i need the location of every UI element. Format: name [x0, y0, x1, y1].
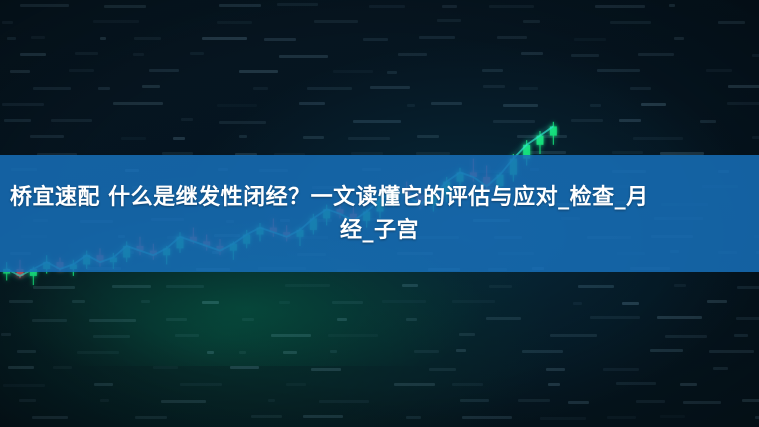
data-text-fragment — [752, 136, 759, 139]
data-text-fragment — [497, 36, 528, 39]
data-text-fragment — [616, 382, 656, 385]
data-text-fragment — [398, 53, 428, 56]
data-text-fragment — [456, 349, 466, 352]
data-text-fragment — [264, 38, 296, 41]
data-text-fragment — [660, 415, 686, 418]
data-text-fragment — [574, 38, 606, 41]
data-text-fragment — [619, 119, 641, 122]
data-text-fragment — [742, 399, 759, 402]
data-text-fragment — [207, 351, 215, 354]
data-text-fragment — [568, 401, 589, 404]
data-text-fragment — [253, 87, 268, 90]
data-text-fragment — [75, 52, 99, 55]
data-text-fragment — [100, 37, 107, 40]
data-text-fragment — [669, 4, 675, 7]
data-text-fragment — [437, 19, 462, 22]
data-text-fragment — [610, 21, 651, 24]
data-text-fragment — [546, 368, 565, 371]
title-line-2: 经_子宫 — [6, 214, 753, 247]
data-text-fragment — [442, 5, 457, 8]
data-text-fragment — [134, 37, 161, 40]
data-text-fragment — [755, 416, 759, 419]
data-text-fragment — [548, 383, 561, 386]
data-text-fragment — [736, 317, 759, 320]
data-text-fragment — [363, 38, 389, 41]
data-text-fragment — [10, 70, 30, 73]
data-text-fragment — [149, 69, 179, 72]
data-text-fragment — [680, 383, 697, 386]
data-text-fragment — [133, 53, 143, 56]
data-text-fragment — [700, 120, 716, 123]
data-text-fragment — [8, 366, 35, 369]
data-text-fragment — [283, 351, 297, 354]
data-text-fragment — [279, 55, 327, 58]
title-banner: 桥宜速配 什么是继发性闭经？一文读懂它的评估与应对_检查_月 经_子宫 — [0, 155, 759, 272]
data-text-fragment — [752, 54, 759, 57]
data-text-fragment — [20, 53, 47, 56]
data-text-fragment — [612, 151, 643, 154]
data-text-fragment — [573, 302, 582, 305]
data-text-fragment — [590, 104, 601, 107]
data-text-fragment — [180, 383, 222, 386]
data-text-fragment — [727, 102, 759, 105]
data-text-fragment — [394, 383, 435, 386]
data-text-fragment — [571, 54, 599, 57]
data-text-fragment — [483, 85, 505, 88]
banner-image: 桥宜速配 什么是继发性闭经？一文读懂它的评估与应对_检查_月 经_子宫 — [0, 0, 759, 427]
data-text-fragment — [590, 316, 639, 319]
data-text-fragment — [452, 383, 482, 386]
data-text-fragment — [100, 399, 110, 402]
data-text-fragment — [597, 69, 640, 72]
data-text-fragment — [268, 399, 275, 402]
data-text-fragment — [641, 103, 666, 106]
data-text-fragment — [286, 383, 306, 386]
data-text-fragment — [69, 69, 94, 72]
data-text-fragment — [489, 5, 534, 8]
data-text-fragment — [734, 334, 747, 337]
data-text-fragment — [482, 69, 503, 72]
data-text-fragment — [31, 36, 44, 39]
data-text-fragment — [633, 137, 683, 140]
data-text-fragment — [595, 5, 645, 8]
data-text-fragment — [522, 350, 563, 353]
data-text-fragment — [33, 87, 71, 90]
data-text-fragment — [521, 52, 542, 55]
data-text-fragment — [674, 37, 684, 40]
data-text-fragment — [540, 417, 586, 420]
data-text-fragment — [20, 4, 70, 7]
data-text-fragment — [307, 87, 352, 90]
data-text-fragment — [523, 20, 539, 23]
data-text-fragment — [98, 87, 110, 90]
data-text-fragment — [330, 350, 337, 353]
data-text-fragment — [650, 349, 682, 352]
data-text-fragment — [314, 20, 358, 23]
data-text-fragment — [728, 85, 759, 88]
data-text-fragment — [578, 285, 614, 288]
data-text-fragment — [19, 399, 36, 402]
data-text-fragment — [519, 87, 538, 90]
data-text-fragment — [657, 316, 702, 319]
data-text-fragment — [683, 401, 721, 404]
data-text-fragment — [369, 5, 405, 8]
data-text-fragment — [190, 52, 204, 55]
data-text-fragment — [387, 71, 396, 74]
data-text-fragment — [406, 416, 421, 419]
data-text-fragment — [460, 399, 489, 402]
data-text-fragment — [303, 415, 343, 418]
data-text-fragment — [2, 21, 13, 24]
data-text-fragment — [518, 399, 550, 402]
data-text-fragment — [277, 3, 318, 6]
data-text-fragment — [161, 400, 205, 403]
data-text-fragment — [630, 87, 651, 90]
data-text-fragment — [737, 286, 759, 289]
data-text-fragment — [142, 85, 160, 88]
title-line-1: 桥宜速配 什么是继发性闭经？一文读懂它的评估与应对_检查_月 — [6, 181, 753, 214]
data-text-fragment — [429, 368, 456, 371]
data-text-fragment — [571, 119, 603, 122]
data-text-fragment — [414, 350, 439, 353]
data-text-fragment — [230, 366, 259, 369]
data-text-fragment — [7, 37, 15, 40]
data-text-fragment — [622, 302, 639, 305]
data-text-fragment — [239, 70, 278, 73]
data-text-fragment — [77, 351, 119, 354]
data-text-fragment — [709, 350, 754, 353]
data-text-fragment — [607, 416, 636, 419]
data-text-fragment — [94, 383, 114, 386]
data-text-fragment — [104, 5, 145, 8]
data-text-fragment — [462, 416, 512, 419]
data-text-fragment — [636, 400, 665, 403]
data-text-fragment — [239, 351, 246, 354]
data-text-fragment — [603, 368, 639, 371]
data-text-fragment — [3, 384, 45, 387]
data-text-fragment — [319, 400, 369, 403]
data-text-fragment — [419, 36, 455, 39]
data-text-fragment — [17, 350, 36, 353]
data-text-fragment — [251, 415, 282, 418]
data-text-fragment — [718, 21, 745, 24]
data-text-fragment — [665, 335, 708, 338]
data-text-fragment — [153, 366, 178, 369]
data-text-fragment — [370, 86, 411, 89]
page-title: 桥宜速配 什么是继发性闭经？一文读懂它的评估与应对_检查_月 经_子宫 — [6, 181, 753, 247]
data-text-fragment — [93, 20, 139, 23]
data-text-fragment — [311, 368, 341, 371]
data-text-fragment — [53, 366, 72, 369]
data-text-fragment — [219, 4, 261, 7]
data-text-fragment — [707, 300, 727, 303]
data-text-fragment — [713, 367, 727, 370]
data-text-fragment — [706, 69, 732, 72]
data-text-fragment — [202, 37, 247, 40]
data-text-fragment — [135, 416, 168, 419]
data-text-fragment — [32, 416, 67, 419]
data-text-fragment — [333, 70, 373, 73]
data-text-fragment — [217, 21, 252, 24]
data-text-fragment — [638, 53, 674, 56]
data-text-fragment — [674, 284, 687, 287]
